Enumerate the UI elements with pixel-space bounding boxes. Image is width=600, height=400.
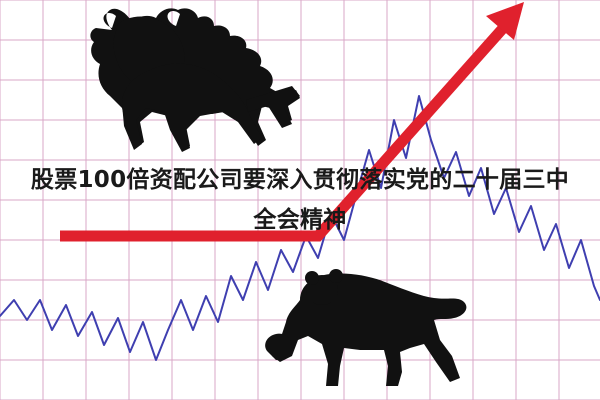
bear-silhouette-icon <box>0 0 600 400</box>
image-canvas: 股票100倍资配公司要深入贯彻落实党的二十届三中全会精神 <box>0 0 600 400</box>
